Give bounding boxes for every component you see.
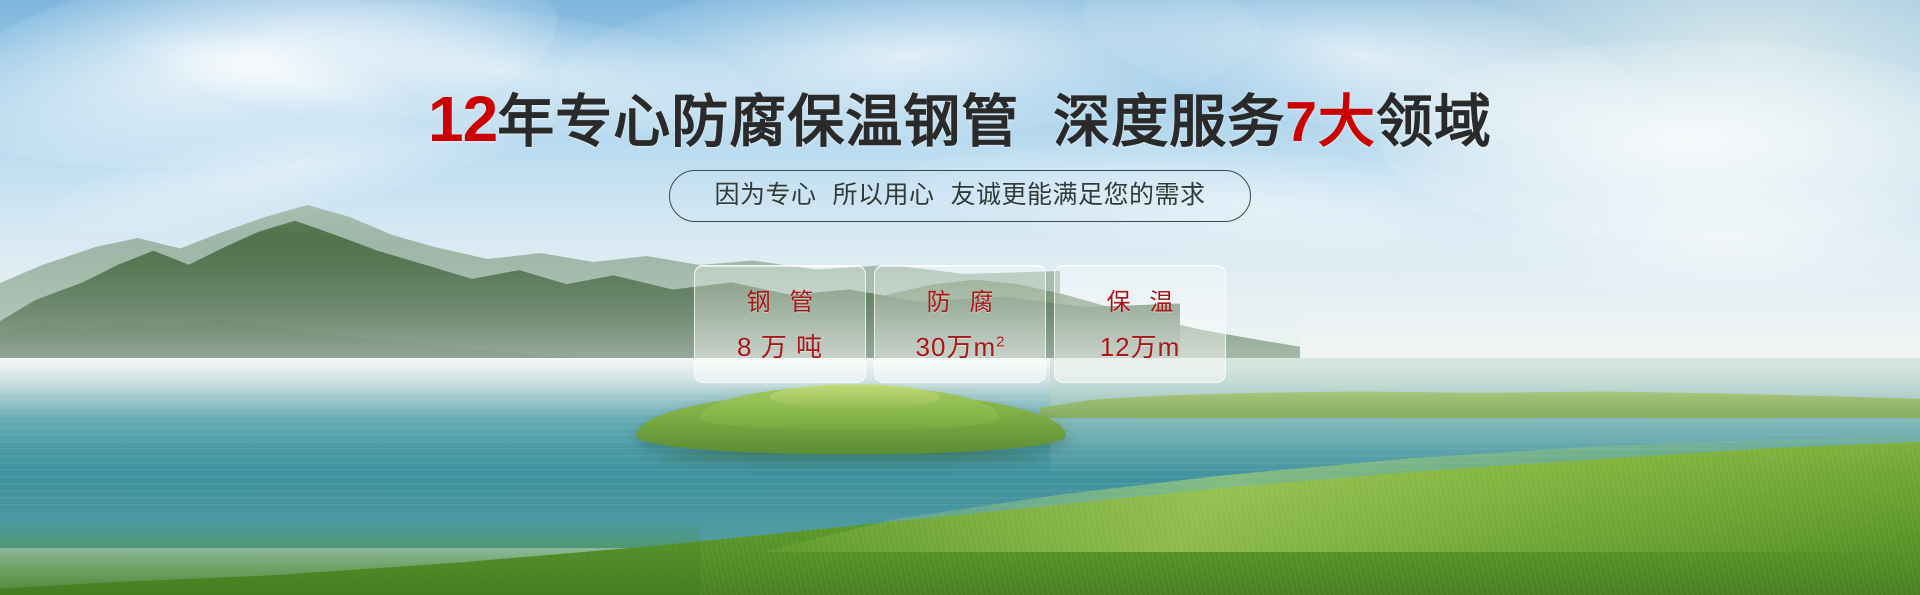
stat-card-value-text: 8 万 吨: [737, 332, 823, 362]
subtitle-container: 因为专心所以用心友诚更能满足您的需求: [0, 170, 1920, 222]
headline-highlight: 7大: [1285, 90, 1376, 154]
subtitle-segment-two: 所以用心: [832, 181, 934, 209]
stat-card-anticorrosion: 防 腐 30万m2: [874, 265, 1046, 383]
stat-card-value-superscript: 2: [996, 333, 1004, 350]
stat-card-label: 防 腐: [921, 288, 1000, 318]
stat-card-label: 钢 管: [741, 288, 820, 318]
stat-card-label: 保 温: [1101, 288, 1180, 318]
subtitle-segment-one: 因为专心: [714, 181, 816, 209]
stat-card-value-text: 12万m: [1100, 332, 1181, 362]
subtitle-segment-three: 友诚更能满足您的需求: [951, 181, 1206, 209]
banner-content: 12年专心防腐保温钢管深度服务7大领域 因为专心所以用心友诚更能满足您的需求 钢…: [0, 0, 1920, 595]
hero-banner: 12年专心防腐保温钢管深度服务7大领域 因为专心所以用心友诚更能满足您的需求 钢…: [0, 0, 1920, 595]
stat-card-value: 12万m: [1100, 332, 1181, 362]
stat-card-value: 30万m2: [916, 332, 1005, 362]
subtitle-pill: 因为专心所以用心友诚更能满足您的需求: [669, 170, 1250, 222]
stat-card-list: 钢 管 8 万 吨 防 腐 30万m2 保 温 12万m: [0, 265, 1920, 383]
stat-card-insulation: 保 温 12万m: [1054, 265, 1226, 383]
stat-card-steel-pipe: 钢 管 8 万 吨: [694, 265, 866, 383]
headline-part-two: 深度服务: [1053, 90, 1285, 154]
headline-part-three: 领域: [1376, 90, 1492, 154]
headline-part-one: 年专心防腐保温钢管: [497, 90, 1019, 154]
headline: 12年专心防腐保温钢管深度服务7大领域: [0, 88, 1920, 153]
stat-card-value: 8 万 吨: [737, 332, 823, 362]
stat-card-value-text: 30万m: [916, 332, 997, 362]
headline-years-number: 12: [428, 83, 497, 155]
